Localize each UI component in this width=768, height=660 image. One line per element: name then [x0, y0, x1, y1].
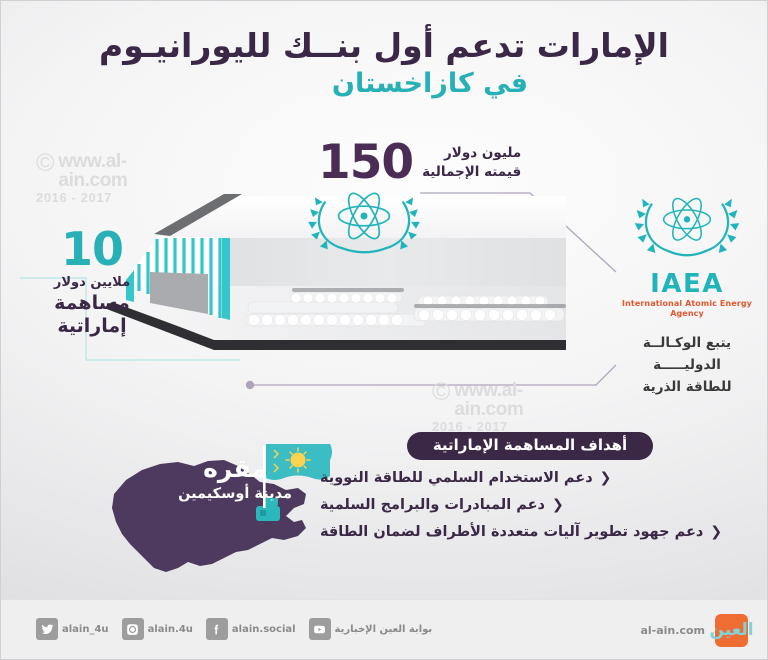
social-link-facebook[interactable]: alain.social: [206, 618, 296, 640]
infographic-canvas: الإمارات تدعم أول بنــك لليورانيـوم في ك…: [0, 0, 768, 660]
stat-uae-line3: إماراتية: [28, 315, 156, 338]
facebook-handle: alain.social: [232, 624, 296, 635]
map-caption: مقره مدينة أوسكيمين: [160, 455, 310, 503]
uranium-bank-building-illustration: [96, 190, 616, 390]
title-main-text: الإمارات تدعم أول بنــك لليورانيـوم: [24, 26, 744, 66]
stat-uae-line2: مساهمة: [28, 292, 156, 315]
stat-uae-number: 10: [28, 228, 156, 272]
goals-heading: أهداف المساهمة الإماراتية: [407, 432, 653, 460]
title-subtitle-text: في كازاخستان: [24, 68, 744, 99]
brand-block[interactable]: al-ain.com العين: [640, 614, 748, 647]
stat-uae-line1: ملايين دولار: [28, 275, 156, 292]
iaea-info-block: IAEA International Atomic Energy Agency …: [612, 182, 762, 398]
stat-total-number: 150: [318, 141, 413, 186]
goal-list-item[interactable]: ❮ دعم الاستخدام السلمي للطاقة النووية: [320, 469, 611, 487]
map-caption-city: مدينة أوسكيمين: [160, 485, 310, 504]
social-links: alain_4u alain.4u alain.social بوابة الع…: [36, 618, 432, 640]
instagram-icon: [122, 618, 144, 640]
chevron-left-icon: ❮: [710, 525, 722, 539]
page-title: الإمارات تدعم أول بنــك لليورانيـوم في ك…: [24, 26, 744, 99]
social-link-instagram[interactable]: alain.4u: [122, 618, 193, 640]
social-link-youtube[interactable]: بوابة العين الإخبارية: [309, 618, 433, 640]
chevron-left-icon: ❮: [600, 471, 612, 485]
goal-text: دعم جهود تطوير آليات متعددة الأطراف لضما…: [320, 523, 703, 541]
stat-uae-contribution: 10 ملايين دولار مساهمة إماراتية: [28, 228, 156, 338]
youtube-channel-name: بوابة العين الإخبارية: [335, 624, 433, 635]
goals-section: أهداف المساهمة الإماراتية ❮ دعم الاستخدا…: [320, 432, 740, 541]
goal-text: دعم المبادرات والبرامج السلمية: [320, 496, 545, 514]
iaea-arabic-line2: الدوليـــــة: [612, 355, 762, 377]
map-caption-title: مقره: [160, 455, 310, 483]
stat-total-line2: قيمته الإجمالية: [422, 163, 521, 183]
iaea-arabic-line3: للطاقة الذرية: [612, 377, 762, 399]
youtube-icon: [309, 618, 331, 640]
iaea-logo-icon: [631, 182, 743, 266]
footer-bar: alain_4u alain.4u alain.social بوابة الع…: [0, 599, 768, 660]
iaea-full-name: International Atomic Energy Agency: [612, 299, 762, 320]
goal-text: دعم الاستخدام السلمي للطاقة النووية: [320, 469, 593, 487]
stat-total-value: مليون دولار قيمته الإجمالية 150: [318, 141, 521, 186]
brand-url: al-ain.com: [640, 624, 705, 637]
stat-total-line1: مليون دولار: [422, 144, 521, 164]
social-link-twitter[interactable]: alain_4u: [36, 618, 109, 640]
chevron-left-icon: ❮: [552, 498, 564, 512]
instagram-handle: alain.4u: [148, 624, 193, 635]
iaea-arabic-line1: يتبع الوكـالــة: [612, 333, 762, 355]
twitter-icon: [36, 618, 58, 640]
facebook-icon: [206, 618, 228, 640]
al-ain-logo-icon: العين: [715, 614, 748, 647]
goal-list-item[interactable]: ❮ دعم المبادرات والبرامج السلمية: [320, 496, 564, 514]
iaea-acronym: IAEA: [612, 271, 762, 297]
brand-logo-text: العين: [709, 622, 753, 639]
twitter-handle: alain_4u: [62, 624, 109, 635]
goal-list-item[interactable]: ❮ دعم جهود تطوير آليات متعددة الأطراف لض…: [320, 523, 722, 541]
